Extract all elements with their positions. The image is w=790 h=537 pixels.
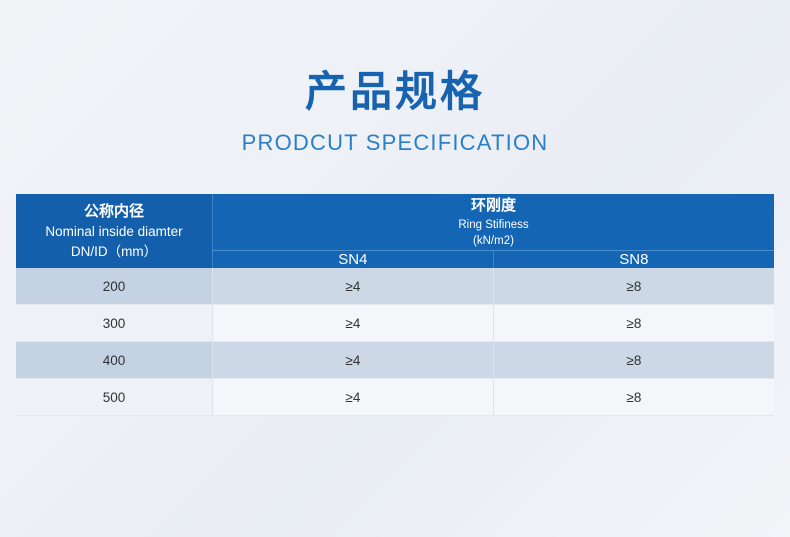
cell-sn8: ≥8 xyxy=(493,305,774,342)
page-heading: 产品规格 PRODCUT SPECIFICATION xyxy=(0,0,790,156)
cell-sn4: ≥4 xyxy=(213,268,494,305)
cell-sn8: ≥8 xyxy=(493,342,774,379)
cell-sn4: ≥4 xyxy=(213,305,494,342)
header-ring-stiffness: 环刚度 Ring Stifiness (kN/m2) xyxy=(213,194,775,250)
page-title-en: PRODCUT SPECIFICATION xyxy=(0,130,790,156)
header-sn4: SN4 xyxy=(213,251,494,269)
header-nominal-unit: DN/ID（mm） xyxy=(16,242,212,262)
header-ring-stiffness-en: Ring Stifiness xyxy=(213,217,774,234)
cell-dn: 200 xyxy=(16,268,213,305)
page-title-cn: 产品规格 xyxy=(0,68,790,116)
product-specification-page: 产品规格 PRODCUT SPECIFICATION 公称内径 Nominal … xyxy=(0,0,790,537)
header-ring-stiffness-unit: (kN/m2) xyxy=(213,233,774,250)
cell-dn: 500 xyxy=(16,379,213,416)
cell-sn8: ≥8 xyxy=(493,379,774,416)
cell-dn: 400 xyxy=(16,342,213,379)
cell-sn4: ≥4 xyxy=(213,379,494,416)
table-row: 400 ≥4 ≥8 xyxy=(16,342,774,379)
header-nominal-inside-diameter: 公称内径 Nominal inside diamter DN/ID（mm） xyxy=(16,194,213,268)
cell-sn8: ≥8 xyxy=(493,268,774,305)
table-header-row-1: 公称内径 Nominal inside diamter DN/ID（mm） 环刚… xyxy=(16,194,774,250)
table-row: 200 ≥4 ≥8 xyxy=(16,268,774,305)
table-row: 300 ≥4 ≥8 xyxy=(16,305,774,342)
header-ring-stiffness-cn: 环刚度 xyxy=(213,194,774,217)
header-sn8: SN8 xyxy=(493,251,774,269)
header-nominal-en: Nominal inside diamter xyxy=(16,222,212,242)
header-nominal-cn: 公称内径 xyxy=(16,200,212,223)
table-row: 500 ≥4 ≥8 xyxy=(16,379,774,416)
cell-dn: 300 xyxy=(16,305,213,342)
specification-table: 公称内径 Nominal inside diamter DN/ID（mm） 环刚… xyxy=(16,194,774,416)
cell-sn4: ≥4 xyxy=(213,342,494,379)
